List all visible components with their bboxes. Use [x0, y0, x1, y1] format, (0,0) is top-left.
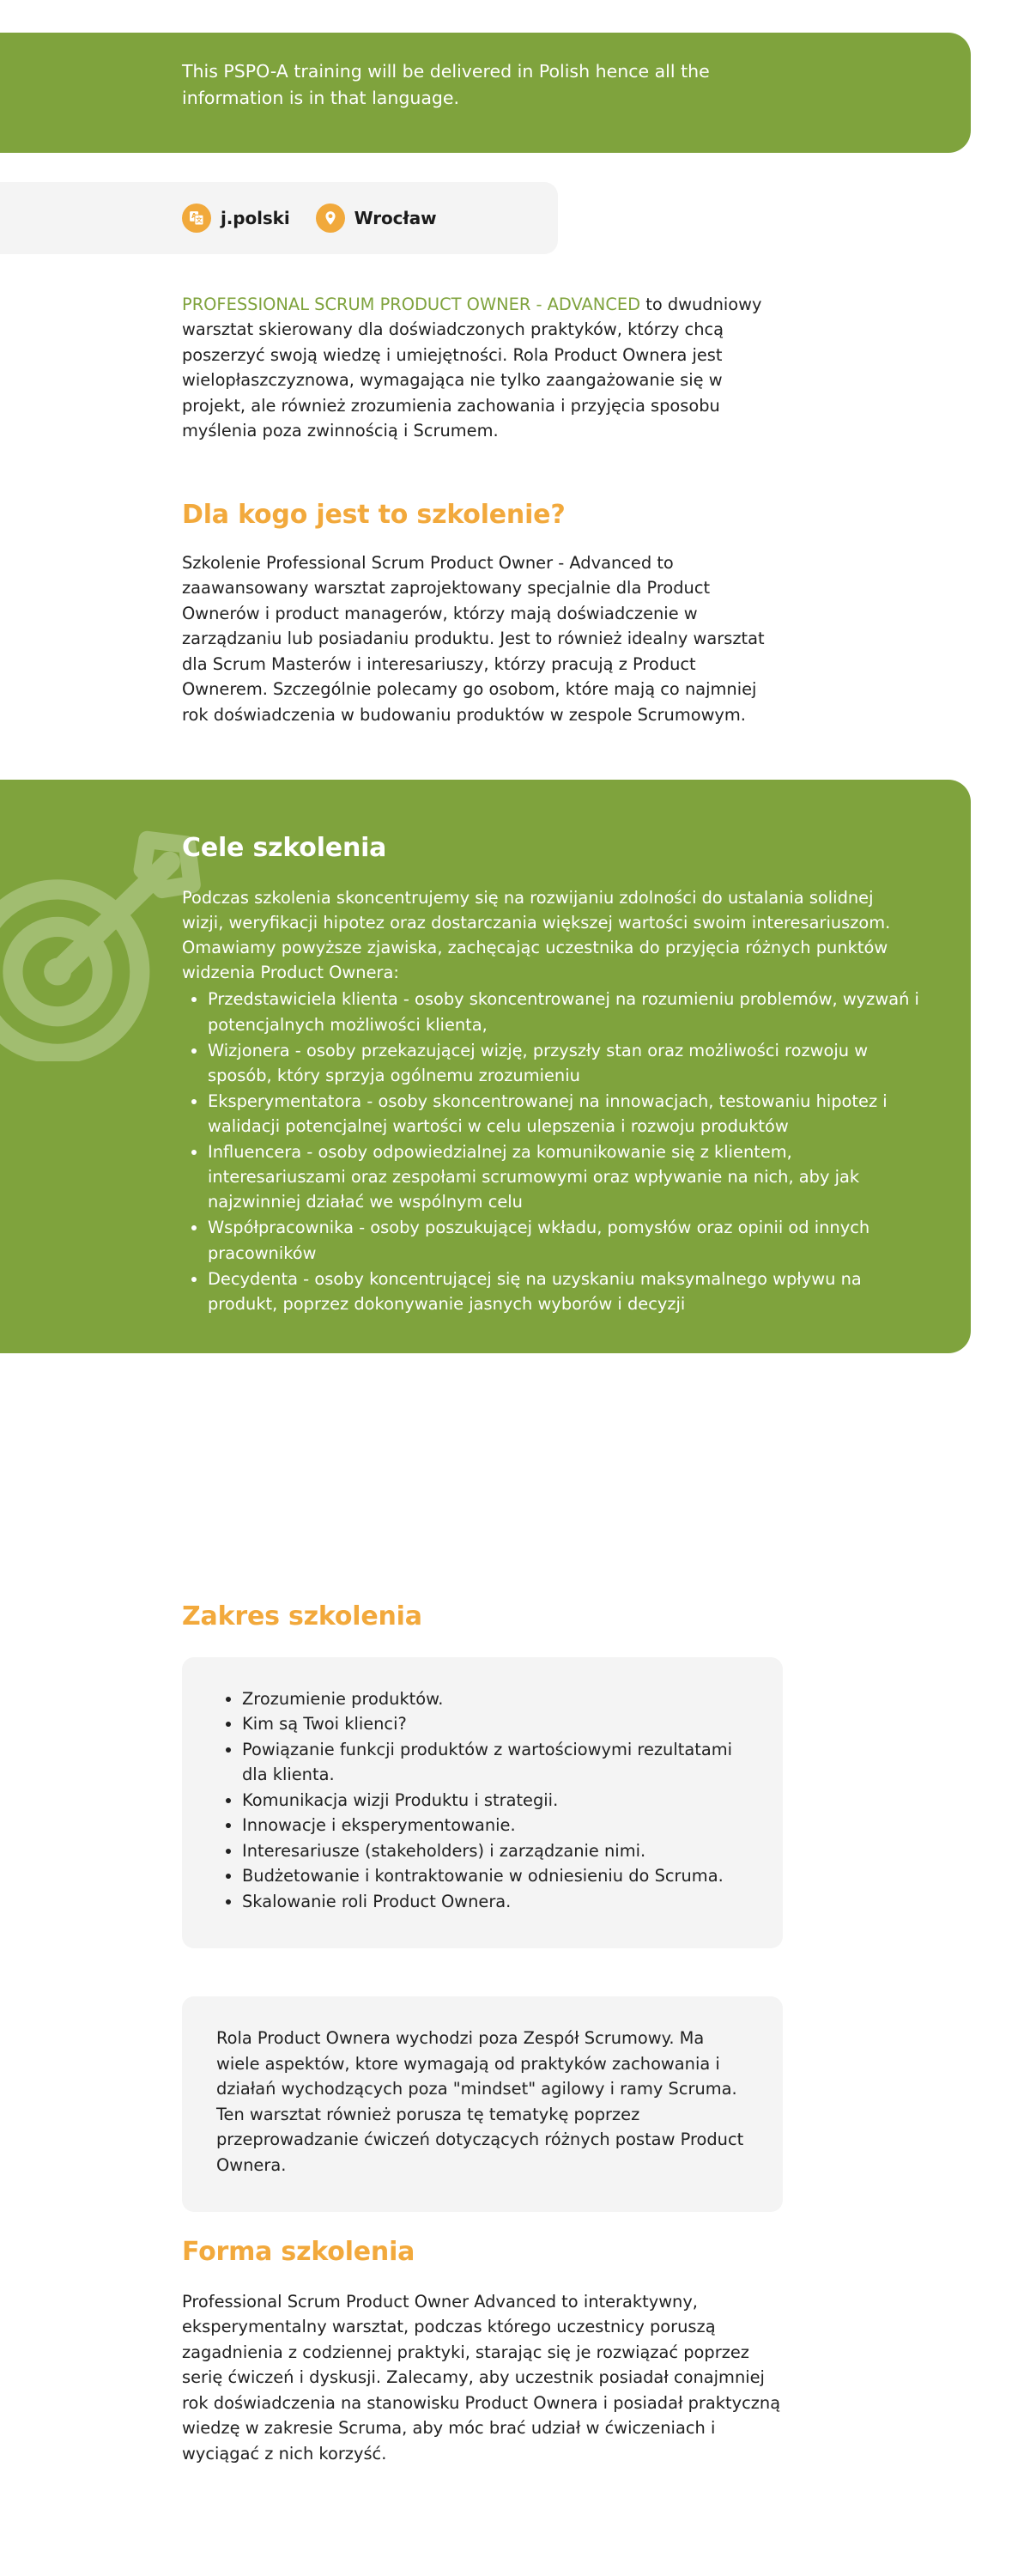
language-notice-text: This PSPO-A training will be delivered i…: [182, 58, 728, 112]
scope-note-text: Rola Product Ownera wychodzi poza Zespół…: [216, 2026, 748, 2178]
audience-paragraph: Szkolenie Professional Scrum Product Own…: [182, 550, 783, 727]
list-item: Decydenta - osoby koncentrującej się na …: [208, 1267, 919, 1316]
goals-intro: Podczas szkolenia skoncentrujemy się na …: [182, 885, 919, 985]
scope-heading: Zakres szkolenia: [182, 1601, 783, 1631]
scope-card: Zrozumienie produktów. Kim są Twoi klien…: [182, 1657, 783, 1948]
list-item: Innowacje i eksperymentowanie.: [242, 1813, 748, 1838]
location-pin-icon: [316, 204, 345, 233]
chip-language[interactable]: A 文 j.polski: [182, 204, 290, 233]
chip-language-label: j.polski: [221, 208, 290, 228]
scope-note-card: Rola Product Ownera wychodzi poza Zespół…: [182, 1996, 783, 2212]
chip-location[interactable]: Wrocław: [316, 204, 437, 233]
scope-list: Zrozumienie produktów. Kim są Twoi klien…: [216, 1686, 748, 1914]
goals-heading: Cele szkolenia: [182, 833, 919, 863]
list-item: Wizjonera - osoby przekazującej wizję, p…: [208, 1038, 919, 1088]
list-item: Współpracownika - osoby poszukującej wkł…: [208, 1215, 919, 1265]
list-item: Powiązanie funkcji produktów z wartościo…: [242, 1737, 748, 1788]
list-item: Przedstawiciela klienta - osoby skoncent…: [208, 987, 919, 1036]
form-section: Forma szkolenia Professional Scrum Produ…: [182, 2237, 783, 2466]
translate-icon: A 文: [182, 204, 211, 233]
audience-heading: Dla kogo jest to szkolenie?: [182, 500, 783, 530]
intro-paragraph: PROFESSIONAL SCRUM PRODUCT OWNER - ADVAN…: [182, 292, 774, 444]
svg-text:文: 文: [196, 216, 203, 224]
list-item: Eksperymentatora - osoby skoncentrowanej…: [208, 1089, 919, 1139]
scope-section: Zakres szkolenia Zrozumienie produktów. …: [182, 1601, 783, 2212]
list-item: Interesariusze (stakeholders) i zarządza…: [242, 1838, 748, 1863]
course-title-link[interactable]: PROFESSIONAL SCRUM PRODUCT OWNER - ADVAN…: [182, 295, 640, 314]
chip-location-label: Wrocław: [354, 208, 437, 228]
goals-panel: Cele szkolenia Podczas szkolenia skoncen…: [0, 780, 971, 1353]
meta-chips-bar: A 文 j.polski Wrocław: [0, 182, 558, 254]
list-item: Kim są Twoi klienci?: [242, 1711, 748, 1736]
list-item: Komunikacja wizji Produktu i strategii.: [242, 1788, 748, 1813]
intro-paragraph-rest: to dwudniowy warsztat skierowany dla doś…: [182, 295, 761, 440]
audience-section: Dla kogo jest to szkolenie? Szkolenie Pr…: [182, 500, 783, 727]
list-item: Budżetowanie i kontraktowanie w odniesie…: [242, 1863, 748, 1888]
goals-list: Przedstawiciela klienta - osoby skoncent…: [182, 987, 919, 1315]
list-item: Zrozumienie produktów.: [242, 1686, 748, 1711]
list-item: Influencera - osoby odpowiedzialnej za k…: [208, 1139, 919, 1214]
language-notice-banner: This PSPO-A training will be delivered i…: [0, 33, 971, 153]
form-paragraph: Professional Scrum Product Owner Advance…: [182, 2289, 783, 2466]
list-item: Skalowanie roli Product Ownera.: [242, 1889, 748, 1914]
form-heading: Forma szkolenia: [182, 2237, 783, 2267]
intro-block: PROFESSIONAL SCRUM PRODUCT OWNER - ADVAN…: [182, 292, 774, 444]
goals-content: Cele szkolenia Podczas szkolenia skoncen…: [0, 780, 971, 1353]
